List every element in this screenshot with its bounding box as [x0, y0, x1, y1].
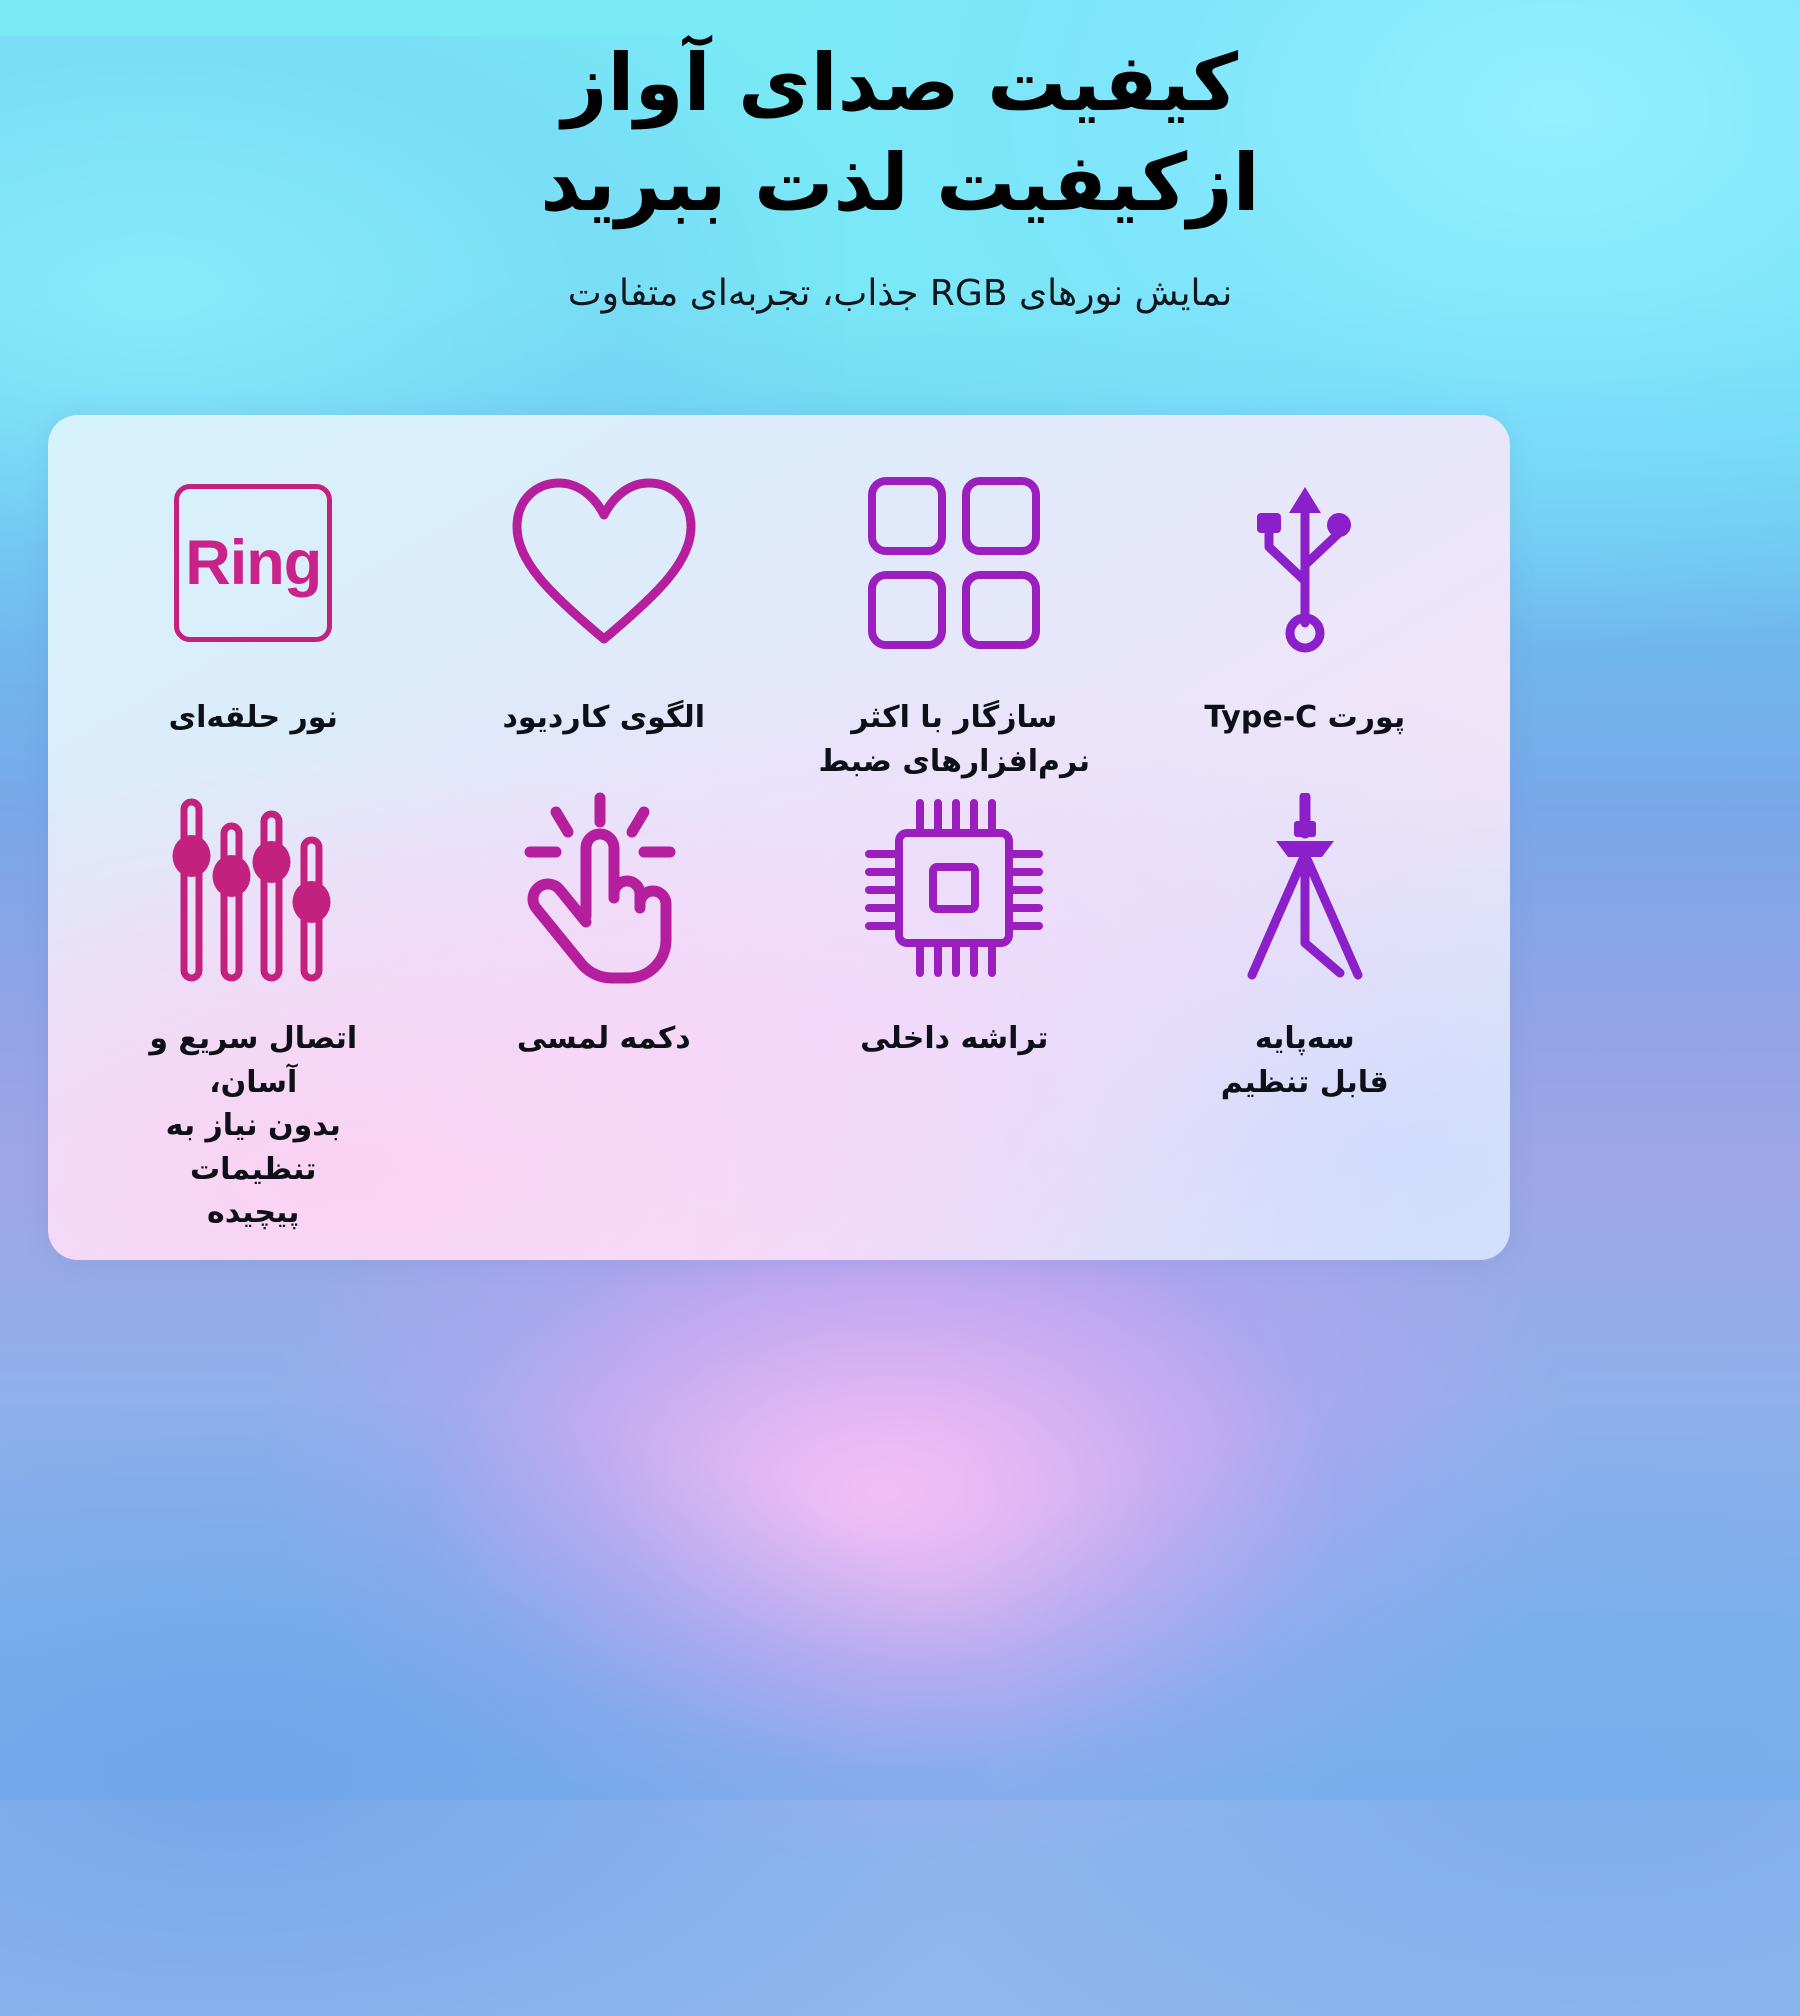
feature-label: سه‌پایه قابل تنظیم	[1221, 1017, 1389, 1104]
feature-item-internal-chip[interactable]: تراشه داخلی	[779, 783, 1130, 1235]
chip-icon	[863, 783, 1045, 993]
feature-item-type-c-port[interactable]: پورت Type-C	[1130, 455, 1481, 783]
feature-label: الگوی کاردیود	[502, 696, 705, 740]
feature-label: پورت Type-C	[1204, 696, 1405, 740]
headline-line-2: ازکیفیت لذت ببرید	[0, 134, 1800, 234]
ring-box-icon: Ring	[174, 455, 332, 670]
feature-label: اتصال سریع و آسان، بدون نیاز به تنظیمات …	[103, 1017, 403, 1235]
sliders-icon	[168, 783, 338, 993]
feature-label: نور حلقه‌ای	[169, 696, 338, 740]
features-grid: پورت Type-C سازگار با اکثر نرم‌افزارهای …	[48, 415, 1510, 1260]
ring-box-text: Ring	[185, 527, 321, 599]
feature-label: تراشه داخلی	[860, 1017, 1048, 1061]
tap-hand-icon	[516, 783, 692, 993]
tripod-icon	[1236, 783, 1374, 993]
feature-item-cardioid-pattern[interactable]: الگوی کاردیود	[429, 455, 780, 783]
heart-icon	[509, 455, 699, 670]
feature-item-software-compatibility[interactable]: سازگار با اکثر نرم‌افزارهای ضبط	[779, 455, 1130, 783]
feature-item-touch-button[interactable]: دکمه لمسی	[429, 783, 780, 1235]
feature-item-ring-light[interactable]: Ring نور حلقه‌ای	[78, 455, 429, 783]
page-subtitle: نمایش نورهای RGB جذاب، تجربه‌ای متفاوت	[0, 269, 1800, 319]
page-title: کیفیت صدای آواز ازکیفیت لذت ببرید	[0, 34, 1800, 233]
feature-label: دکمه لمسی	[517, 1017, 691, 1061]
feature-item-easy-connection[interactable]: اتصال سریع و آسان، بدون نیاز به تنظیمات …	[78, 783, 429, 1235]
page-root: کیفیت صدای آواز ازکیفیت لذت ببرید نمایش …	[0, 0, 1800, 1800]
headline-line-1: کیفیت صدای آواز	[0, 34, 1800, 134]
features-card: پورت Type-C سازگار با اکثر نرم‌افزارهای …	[48, 415, 1510, 1260]
usb-icon	[1245, 455, 1365, 670]
feature-item-adjustable-tripod[interactable]: سه‌پایه قابل تنظیم	[1130, 783, 1481, 1235]
four-squares-grid-icon	[866, 455, 1042, 670]
feature-label: سازگار با اکثر نرم‌افزارهای ضبط	[819, 696, 1090, 783]
page-header: کیفیت صدای آواز ازکیفیت لذت ببرید نمایش …	[0, 0, 1800, 319]
ring-box-outline: Ring	[174, 484, 332, 642]
